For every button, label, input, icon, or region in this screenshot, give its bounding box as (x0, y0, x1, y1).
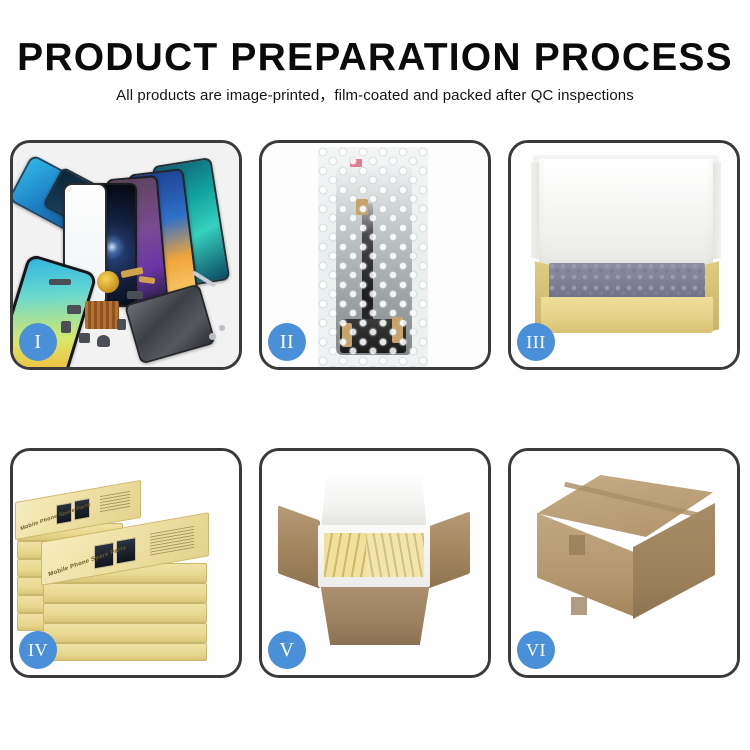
stacked-box-r4 (43, 623, 207, 643)
foam-lid (321, 471, 427, 529)
step-panel-6[interactable]: VI (508, 448, 740, 678)
small-part-chip-4 (79, 333, 90, 343)
small-part-chip-6 (117, 319, 126, 330)
carton-tape-upper (569, 535, 585, 555)
screw-part-1 (209, 333, 216, 340)
step-panel-1[interactable]: I (10, 140, 242, 370)
step-panel-2[interactable]: II (259, 140, 491, 370)
small-part-chip-5 (97, 335, 110, 347)
page-header: PRODUCT PREPARATION PROCESS All products… (0, 0, 750, 125)
step-panel-3[interactable]: III (508, 140, 740, 370)
packed-boxes-right (366, 533, 424, 577)
box-spec-lines-2 (150, 526, 194, 556)
small-part-chip-2 (67, 305, 81, 314)
step-badge-2: II (268, 323, 306, 361)
step-badge-5: V (268, 631, 306, 669)
step-badge-1: I (19, 323, 57, 361)
step-badge-6: VI (517, 631, 555, 669)
screw-part-2 (219, 325, 225, 331)
box-white-lid (539, 159, 713, 271)
stacked-box-r2 (43, 583, 207, 603)
page-subtitle: All products are image-printed，film-coat… (0, 84, 750, 105)
small-part-chip-3 (61, 321, 71, 333)
box-kraft-front (541, 297, 713, 333)
gold-coil-part (97, 271, 119, 293)
bubble-wrap-bag (318, 147, 428, 367)
step-panel-5[interactable]: V (259, 448, 491, 678)
page-title: PRODUCT PREPARATION PROCESS (0, 36, 750, 80)
step-badge-4: IV (19, 631, 57, 669)
process-steps-grid: I II (0, 132, 750, 692)
product-preparation-process-page: PRODUCT PREPARATION PROCESS All products… (0, 0, 750, 750)
foam-padding (549, 263, 705, 301)
stacked-box-r5 (43, 643, 207, 661)
carton-flap-left (278, 505, 320, 588)
carton-tape-lower (571, 597, 587, 615)
small-part-chip-7 (127, 291, 143, 299)
step-panel-4[interactable]: Mobile Phone Spare Parts Mobile Phone Sp… (10, 448, 242, 678)
carton-front-panel (316, 587, 434, 645)
step-badge-3: III (517, 323, 555, 361)
box-spec-lines-1 (100, 491, 130, 514)
small-part-chip-1 (49, 279, 71, 285)
copper-shield-part (85, 301, 119, 329)
stacked-box-r3 (43, 603, 207, 623)
carton-flap-right (428, 511, 470, 588)
bubble-texture (318, 147, 428, 367)
